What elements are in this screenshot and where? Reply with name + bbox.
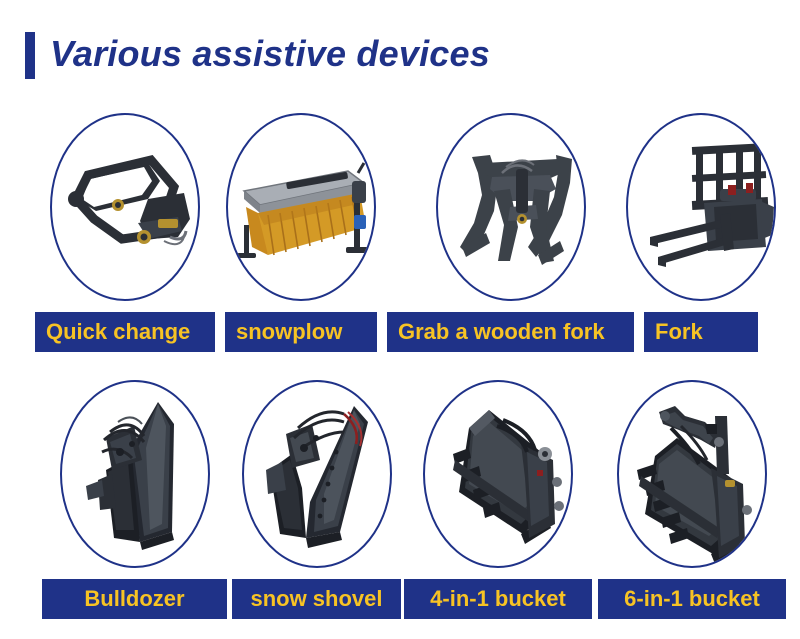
four-in-one-bucket-icon <box>425 382 573 568</box>
page-title: Various assistive devices <box>50 28 490 80</box>
product-thumbnail-ring <box>617 380 767 568</box>
six-in-one-bucket-icon <box>619 382 767 568</box>
product-label: 6-in-1 bucket <box>624 587 760 611</box>
quick-change-coupler-icon <box>52 115 200 301</box>
product-label: Grab a wooden fork <box>398 320 605 344</box>
product-thumbnail-ring <box>50 113 200 301</box>
product-thumbnail-ring <box>226 113 376 301</box>
product-label-box[interactable]: Fork <box>644 312 758 352</box>
product-label-box[interactable]: 4-in-1 bucket <box>404 579 592 619</box>
log-grapple-icon <box>438 115 586 301</box>
product-label: Bulldozer <box>84 587 184 611</box>
product-label-box[interactable]: Grab a wooden fork <box>387 312 634 352</box>
product-label: snowplow <box>236 320 342 344</box>
product-label-box[interactable]: snow shovel <box>232 579 401 619</box>
pallet-fork-icon <box>628 115 776 301</box>
product-label-box[interactable]: 6-in-1 bucket <box>598 579 786 619</box>
product-label-box[interactable]: Bulldozer <box>42 579 227 619</box>
product-label: Quick change <box>46 320 190 344</box>
product-thumbnail-ring <box>242 380 392 568</box>
title-accent-bar <box>25 32 35 79</box>
product-label: Fork <box>655 320 703 344</box>
product-thumbnail-ring <box>626 113 776 301</box>
product-thumbnail-ring <box>436 113 586 301</box>
product-label: snow shovel <box>250 587 382 611</box>
product-label: 4-in-1 bucket <box>430 587 566 611</box>
product-thumbnail-ring <box>423 380 573 568</box>
product-row: Quick change <box>0 105 800 372</box>
page-header: Various assistive devices <box>0 0 800 105</box>
product-grid: Quick change <box>0 105 800 639</box>
product-row: Bulldozer <box>0 372 800 639</box>
product-thumbnail-ring <box>60 380 210 568</box>
dozer-blade-icon <box>62 382 210 568</box>
rotary-broom-sweeper-icon <box>228 115 376 301</box>
snow-pusher-blade-icon <box>244 382 392 568</box>
product-label-box[interactable]: snowplow <box>225 312 377 352</box>
product-label-box[interactable]: Quick change <box>35 312 215 352</box>
